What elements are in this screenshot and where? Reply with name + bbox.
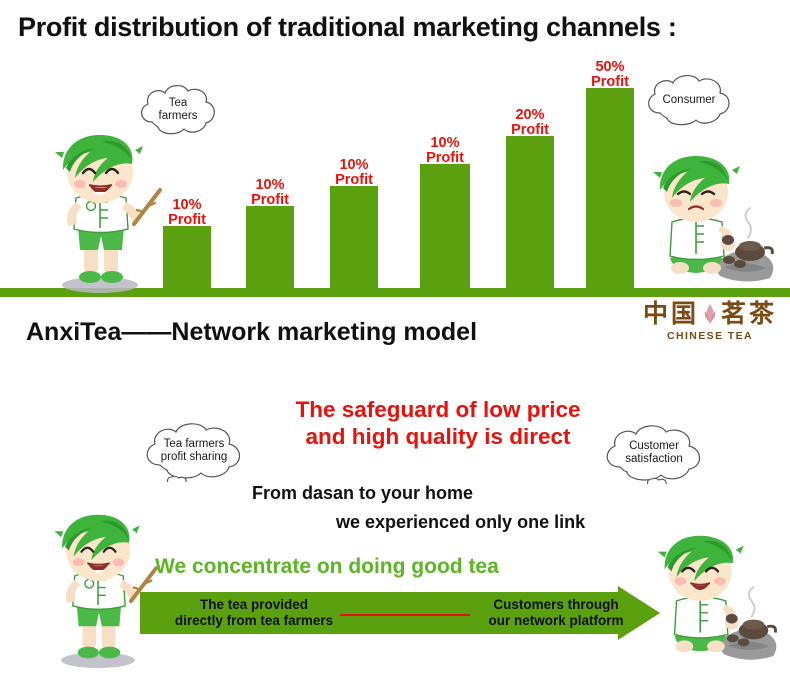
page-title: Profit distribution of traditional marke… [18, 12, 677, 43]
cloud-bottom-right-line1: Customer [629, 440, 679, 452]
bar-1 [163, 226, 211, 288]
customer-character-bottom [640, 520, 788, 670]
arrow-connector-line [340, 614, 470, 616]
bottom-sub-line2: we experienced only one link [336, 512, 585, 533]
cloud-top-left-line2: farmers [159, 110, 198, 122]
bottom-headline: The safeguard of low price and high qual… [258, 396, 618, 450]
bar-3 [330, 186, 378, 288]
cloud-bottom-right-line2: satisfaction [625, 453, 683, 465]
green-tagline: We concentrate on doing good tea [155, 555, 499, 579]
leaf-icon [702, 303, 718, 325]
infographic-canvas: Profit distribution of traditional marke… [0, 0, 790, 681]
cloud-customer-satisfaction: Customer satisfaction [598, 422, 710, 484]
logo-cn-right: 茗茶 [721, 300, 777, 328]
arrow-right-line2: our network platform [488, 613, 623, 628]
bar-label-4-pct: 10% [430, 135, 459, 151]
cloud-bottom-right-text: Customer satisfaction [625, 440, 683, 466]
arrow-left-line2: directly from tea farmers [175, 613, 333, 628]
bottom-sub-line1: From dasan to your home [252, 483, 473, 504]
bar-label-6: 50% Profit [578, 60, 642, 90]
consumer-character-top [636, 140, 784, 292]
tea-farmer-character-top [36, 128, 164, 293]
bar-4 [420, 164, 470, 288]
cloud-top-left-line1: Tea [169, 97, 188, 109]
arrow-right-line1: Customers through [493, 597, 618, 612]
cloud-bottom-left-line2: profit sharing [161, 451, 227, 463]
bar-label-1: 10% Profit [155, 198, 219, 228]
arrow-left-line1: The tea provided [200, 597, 308, 612]
cloud-bottom-left-line1: Tea farmers [164, 438, 225, 450]
bar-label-3: 10% Profit [322, 158, 386, 188]
leaf-glyph-icon [702, 303, 718, 325]
bar-label-2-word: Profit [251, 192, 289, 208]
logo-chinese-text: 中国 茗茶 [645, 300, 775, 328]
bar-5 [506, 136, 554, 288]
chinese-tea-logo: 中国 茗茶 CHINESE TEA [645, 300, 775, 342]
customer-boy-icon [640, 520, 788, 670]
bar-label-5-word: Profit [511, 122, 549, 138]
bar-label-3-word: Profit [335, 172, 373, 188]
anxitea-model-label: AnxiTea——Network marketing model [26, 318, 477, 347]
bar-label-6-pct: 50% [595, 59, 624, 75]
bar-2 [246, 206, 294, 288]
logo-english-text: CHINESE TEA [645, 330, 775, 342]
bar-label-3-pct: 10% [339, 157, 368, 173]
bar-label-2: 10% Profit [238, 178, 302, 208]
bar-label-4: 10% Profit [413, 136, 477, 166]
farmer-boy-icon [36, 128, 164, 293]
arrow-right-text: Customers through our network platform [456, 597, 656, 629]
bar-6 [586, 88, 634, 288]
bar-label-6-word: Profit [591, 74, 629, 90]
consumer-boy-icon [636, 140, 784, 292]
cloud-tea-farmers-top-text: Tea farmers [159, 97, 198, 123]
bar-label-5: 20% Profit [498, 108, 562, 138]
farmer-boy-icon [34, 508, 162, 668]
bar-label-1-word: Profit [168, 212, 206, 228]
bottom-headline-line1: The safeguard of low price [295, 397, 580, 422]
cloud-tea-farmers-profit-sharing: Tea farmers profit sharing [138, 420, 250, 482]
bar-label-4-word: Profit [426, 150, 464, 166]
bottom-headline-line2: and high quality is direct [305, 424, 570, 449]
arrow-left-text: The tea provided directly from tea farme… [154, 597, 354, 629]
cloud-consumer-top-text: Consumer [662, 94, 715, 107]
cloud-bottom-left-text: Tea farmers profit sharing [161, 438, 227, 464]
bar-label-2-pct: 10% [255, 177, 284, 193]
tea-farmer-character-bottom [34, 508, 162, 668]
value-chain-arrow: The tea provided directly from tea farme… [140, 592, 660, 634]
logo-cn-left: 中国 [643, 300, 699, 328]
bar-label-5-pct: 20% [515, 107, 544, 123]
cloud-consumer-top: Consumer [640, 72, 738, 128]
cloud-tea-farmers-top: Tea farmers [134, 82, 222, 138]
bar-label-1-pct: 10% [172, 197, 201, 213]
